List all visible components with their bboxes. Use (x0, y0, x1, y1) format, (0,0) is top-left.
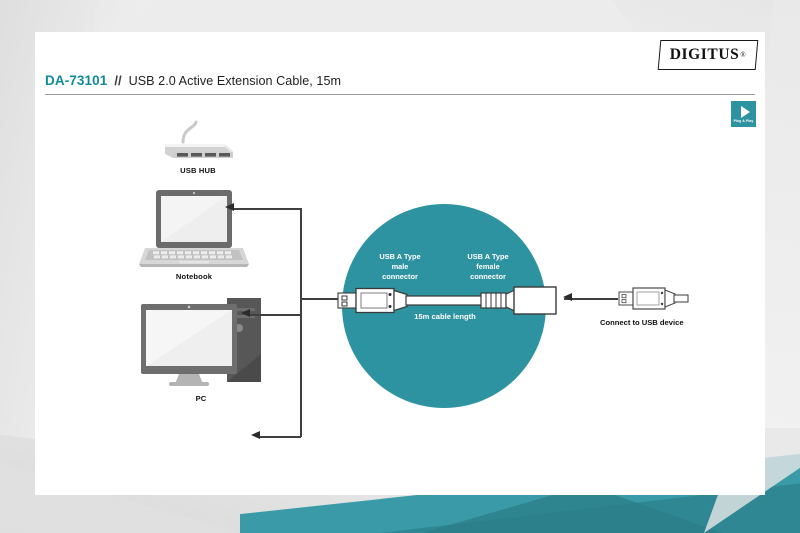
female-label-line1: USB A Type (443, 252, 533, 262)
branch-line-notebook (249, 314, 301, 316)
registered-mark: ® (740, 51, 746, 59)
male-label-line2: male (355, 262, 445, 272)
product-title: USB 2.0 Active Extension Cable, 15m (129, 74, 341, 88)
branch-line-hub (233, 208, 301, 210)
header-divider (45, 94, 755, 95)
female-connector-label: USB A Type female connector (443, 252, 533, 281)
usb-hub-icon (155, 120, 241, 166)
branch-line-pc (259, 436, 301, 438)
male-label-line1: USB A Type (355, 252, 445, 262)
arrow-notebook (241, 309, 250, 317)
device-line (564, 298, 618, 300)
title-separator: // (114, 73, 121, 88)
digitus-logo: DIGITUS® (659, 40, 757, 70)
connection-diagram: USB A Type male connector USB A Type fem… (35, 104, 765, 494)
female-label-line3: connector (443, 272, 533, 282)
notebook-label: Notebook (139, 272, 249, 281)
notebook-icon (139, 188, 249, 270)
product-datasheet-page: DIGITUS® DA-73101 // USB 2.0 Active Exte… (0, 0, 800, 533)
usb-extension-cable (335, 284, 560, 318)
pc-label: PC (139, 394, 263, 403)
trunk-line (300, 208, 302, 437)
content-card: DIGITUS® DA-73101 // USB 2.0 Active Exte… (35, 32, 765, 495)
male-label-line3: connector (355, 272, 445, 282)
arrow-pc (251, 431, 260, 439)
male-connector-label: USB A Type male connector (355, 252, 445, 281)
usb-hub-label: USB HUB (155, 166, 241, 175)
female-label-line2: female (443, 262, 533, 272)
product-sku: DA-73101 (45, 73, 107, 88)
connect-to-usb-device-label: Connect to USB device (600, 318, 684, 327)
arrow-hub (225, 203, 234, 211)
arrow-device (563, 293, 572, 301)
cable-stub-line (300, 298, 338, 300)
logo-text: DIGITUS (670, 46, 740, 64)
page-title: DA-73101 // USB 2.0 Active Extension Cab… (45, 73, 341, 88)
usb-device-plug-icon (617, 284, 689, 314)
logo-wordmark: DIGITUS® (659, 40, 757, 70)
